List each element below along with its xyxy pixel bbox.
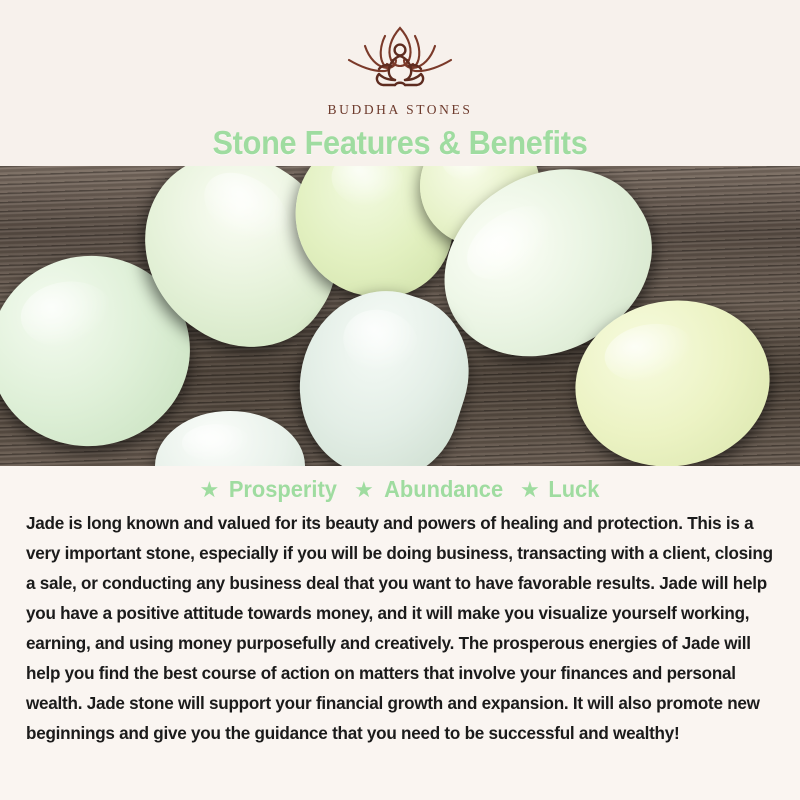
benefit-item: ★ Prosperity (200, 476, 341, 503)
title-banner: Stone Features & Benefits (0, 124, 800, 162)
stone-description: Jade is long known and valued for its be… (26, 509, 786, 749)
benefit-item: ★ Abundance (354, 476, 506, 503)
header: BUDDHA STONES Stone Features & Benefits (0, 0, 800, 166)
brand-name: BUDDHA STONES (0, 102, 800, 118)
content-section: ★ Prosperity ★ Abundance ★ Luck Jade is … (0, 466, 800, 800)
benefit-label: Abundance (384, 476, 503, 503)
star-icon: ★ (200, 479, 220, 501)
brand-logo: BUDDHA STONES (0, 22, 800, 118)
benefit-label: Prosperity (229, 476, 337, 503)
lotus-meditation-icon (325, 22, 475, 99)
page-title: Stone Features & Benefits (28, 124, 772, 162)
benefit-label: Luck (548, 476, 599, 503)
star-icon: ★ (520, 479, 540, 501)
benefits-row: ★ Prosperity ★ Abundance ★ Luck (0, 466, 800, 503)
benefit-item: ★ Luck (520, 476, 600, 503)
stone-photo: Jade (0, 166, 800, 466)
star-icon: ★ (354, 479, 374, 501)
